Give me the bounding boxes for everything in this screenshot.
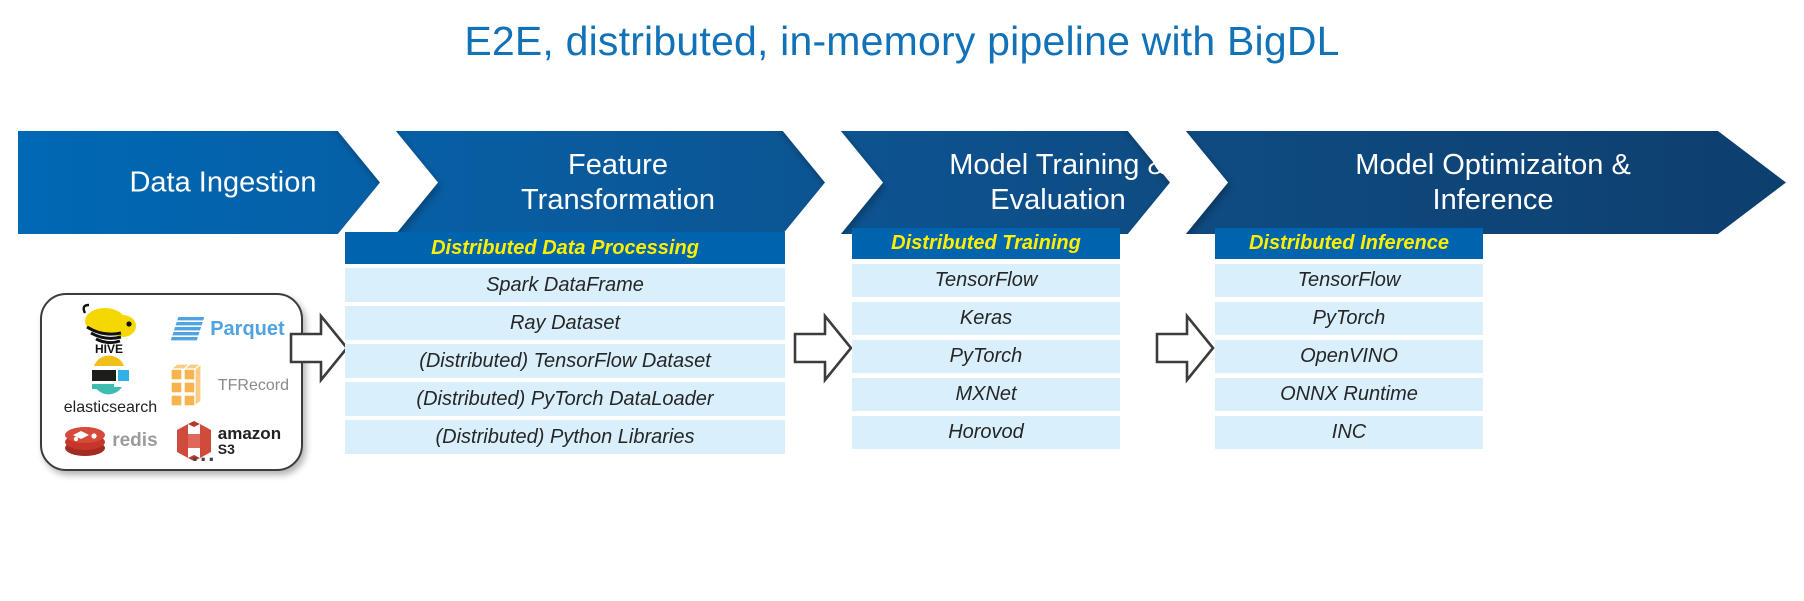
table-row: Spark DataFrame [345, 268, 785, 302]
table-row: PyTorch [1215, 302, 1483, 335]
elasticsearch-label: elasticsearch [64, 400, 157, 416]
table-row: (Distributed) Python Libraries [345, 420, 785, 454]
page-title: E2E, distributed, in-memory pipeline wit… [0, 18, 1804, 65]
redis-label: redis [112, 431, 157, 450]
svg-text:HIVE: HIVE [95, 342, 123, 355]
arrow-training-to-inference [1155, 310, 1215, 391]
amazon-s3-sublabel: S3 [218, 442, 235, 457]
table-row: TensorFlow [1215, 264, 1483, 297]
sources-ellipsis: ... [192, 441, 216, 467]
data-source-card: HIVE Parquet [40, 293, 303, 471]
table-row: MXNet [852, 378, 1120, 411]
amazon-s3-logo: amazon S3 [175, 420, 281, 462]
panel-header-inference: Distributed Inference [1215, 228, 1483, 259]
panel-header-training: Distributed Training [852, 228, 1120, 259]
amazon-label: amazon [218, 425, 281, 442]
tfrecord-label: TFRecord [218, 378, 289, 394]
table-row: TensorFlow [852, 264, 1120, 297]
panel-header-processing: Distributed Data Processing [345, 232, 785, 264]
table-row: Ray Dataset [345, 306, 785, 340]
table-row: Horovod [852, 416, 1120, 449]
parquet-label: Parquet [210, 319, 284, 339]
panel-distributed-data-processing: Distributed Data Processing Spark DataFr… [345, 232, 785, 454]
tfrecord-logo: TFRecord [167, 363, 289, 409]
redis-logo: redis [63, 424, 157, 458]
table-row: PyTorch [852, 340, 1120, 373]
parquet-logo: Parquet [171, 315, 284, 343]
table-row: OpenVINO [1215, 340, 1483, 373]
elasticsearch-logo: elasticsearch [64, 355, 157, 416]
table-row: (Distributed) TensorFlow Dataset [345, 344, 785, 378]
arrow-ingestion-to-processing [289, 310, 349, 391]
table-row: INC [1215, 416, 1483, 449]
panel-distributed-training: Distributed Training TensorFlow Keras Py… [852, 228, 1120, 449]
table-row: Keras [852, 302, 1120, 335]
hive-logo: HIVE [79, 303, 141, 355]
pipeline-stage-banner: Data Ingestion Feature Transformation Mo… [18, 131, 1786, 234]
arrow-processing-to-training [793, 310, 853, 391]
table-row: ONNX Runtime [1215, 378, 1483, 411]
panel-distributed-inference: Distributed Inference TensorFlow PyTorch… [1215, 228, 1483, 449]
table-row: (Distributed) PyTorch DataLoader [345, 382, 785, 416]
